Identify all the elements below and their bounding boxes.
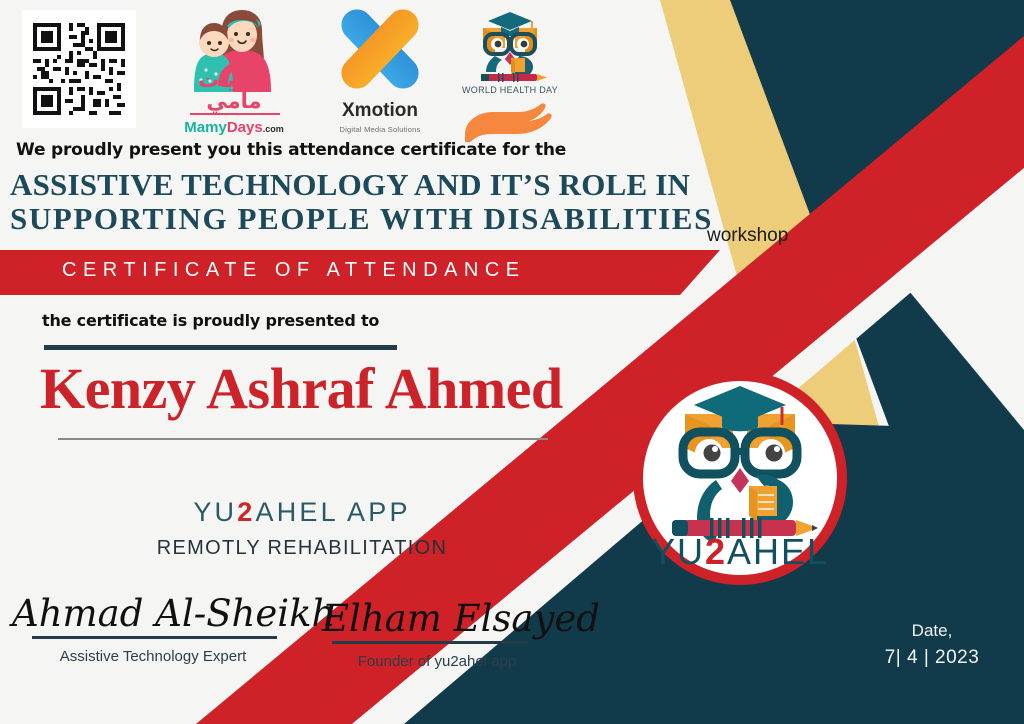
signature-rule-1 bbox=[32, 636, 277, 639]
mamydays-wordmark: MamyDays.com bbox=[168, 120, 300, 135]
recipient-name-rule bbox=[58, 438, 548, 440]
world-health-day-logo[interactable]: WORLD HEALTH DAY bbox=[455, 4, 565, 138]
signature-name-1: Ahmad Al-Sheikh bbox=[12, 595, 294, 632]
logo-row: يوميات مامي MamyDays.com bbox=[0, 0, 620, 140]
ribbon-label: CERTIFICATE OF ATTENDANCE bbox=[62, 259, 526, 282]
owl-scholar-icon bbox=[455, 4, 565, 84]
date-block: Date, 7| 4 | 2023 bbox=[862, 618, 1002, 672]
recipient-name: Kenzy Ashraf Ahmed bbox=[40, 360, 600, 418]
title-line-1: ASSISTIVE TECHNOLOGY AND IT’S ROLE IN bbox=[10, 167, 690, 202]
certificate-ribbon: CERTIFICATE OF ATTENDANCE bbox=[0, 250, 720, 295]
signature-block-2: Elham Elsayed Founder of yu2ahel app bbox=[322, 600, 552, 670]
signature-name-2: Elham Elsayed bbox=[322, 600, 552, 637]
signature-block-1: Ahmad Al-Sheikh Assistive Technology Exp… bbox=[12, 595, 294, 665]
signature-role-2: Founder of yu2ahel app bbox=[322, 653, 552, 670]
presented-to-rule bbox=[44, 345, 397, 350]
mamydays-underline bbox=[190, 113, 280, 115]
date-value: 7| 4 | 2023 bbox=[862, 644, 1002, 673]
mamydays-word-days: Days bbox=[227, 119, 263, 136]
mamydays-word-com: .com bbox=[263, 124, 284, 134]
xmotion-x-icon bbox=[332, 8, 428, 100]
xmotion-subtitle: Digital Media Solutions bbox=[332, 126, 428, 134]
app-wordmark-part1: YU bbox=[193, 497, 237, 527]
world-health-day-caption: WORLD HEALTH DAY bbox=[455, 86, 565, 95]
open-hand-icon bbox=[461, 96, 561, 142]
app-tagline: REMOTLY REHABILITATION bbox=[132, 537, 472, 560]
badge-wordmark: YU2AHEL bbox=[651, 531, 829, 572]
app-wordmark-digit: 2 bbox=[237, 497, 255, 527]
xmotion-title: Xmotion bbox=[332, 101, 428, 120]
yu2ahel-owl-logo: YU2AHEL bbox=[630, 368, 850, 588]
qr-code-icon[interactable] bbox=[22, 10, 136, 128]
yu2ahel-badge[interactable]: YU2AHEL bbox=[630, 368, 850, 588]
page-title: ASSISTIVE TECHNOLOGY AND IT’S ROLE IN SU… bbox=[10, 168, 730, 236]
title-line-2: SUPPORTING PEOPLE WITH DISABILITIES bbox=[10, 202, 730, 236]
signature-rule-2 bbox=[332, 641, 528, 644]
app-wordmark: YU2AHEL APP bbox=[132, 497, 472, 528]
app-wordmark-part2: AHEL APP bbox=[255, 497, 410, 527]
xmotion-logo[interactable]: Xmotion Digital Media Solutions bbox=[332, 8, 428, 136]
mamydays-word-mamy: Mamy bbox=[184, 119, 227, 136]
signature-role-1: Assistive Technology Expert bbox=[12, 648, 294, 665]
certificate-page: يوميات مامي MamyDays.com bbox=[0, 0, 1024, 724]
mamydays-logo[interactable]: يوميات مامي MamyDays.com bbox=[168, 8, 300, 136]
kicker-text: We proudly present you this attendance c… bbox=[16, 140, 566, 160]
workshop-suffix: workshop bbox=[707, 225, 788, 247]
presented-to-label: the certificate is proudly presented to bbox=[42, 311, 379, 330]
mamydays-arabic-text: يوميات مامي bbox=[168, 70, 300, 112]
date-label: Date, bbox=[862, 618, 1002, 644]
